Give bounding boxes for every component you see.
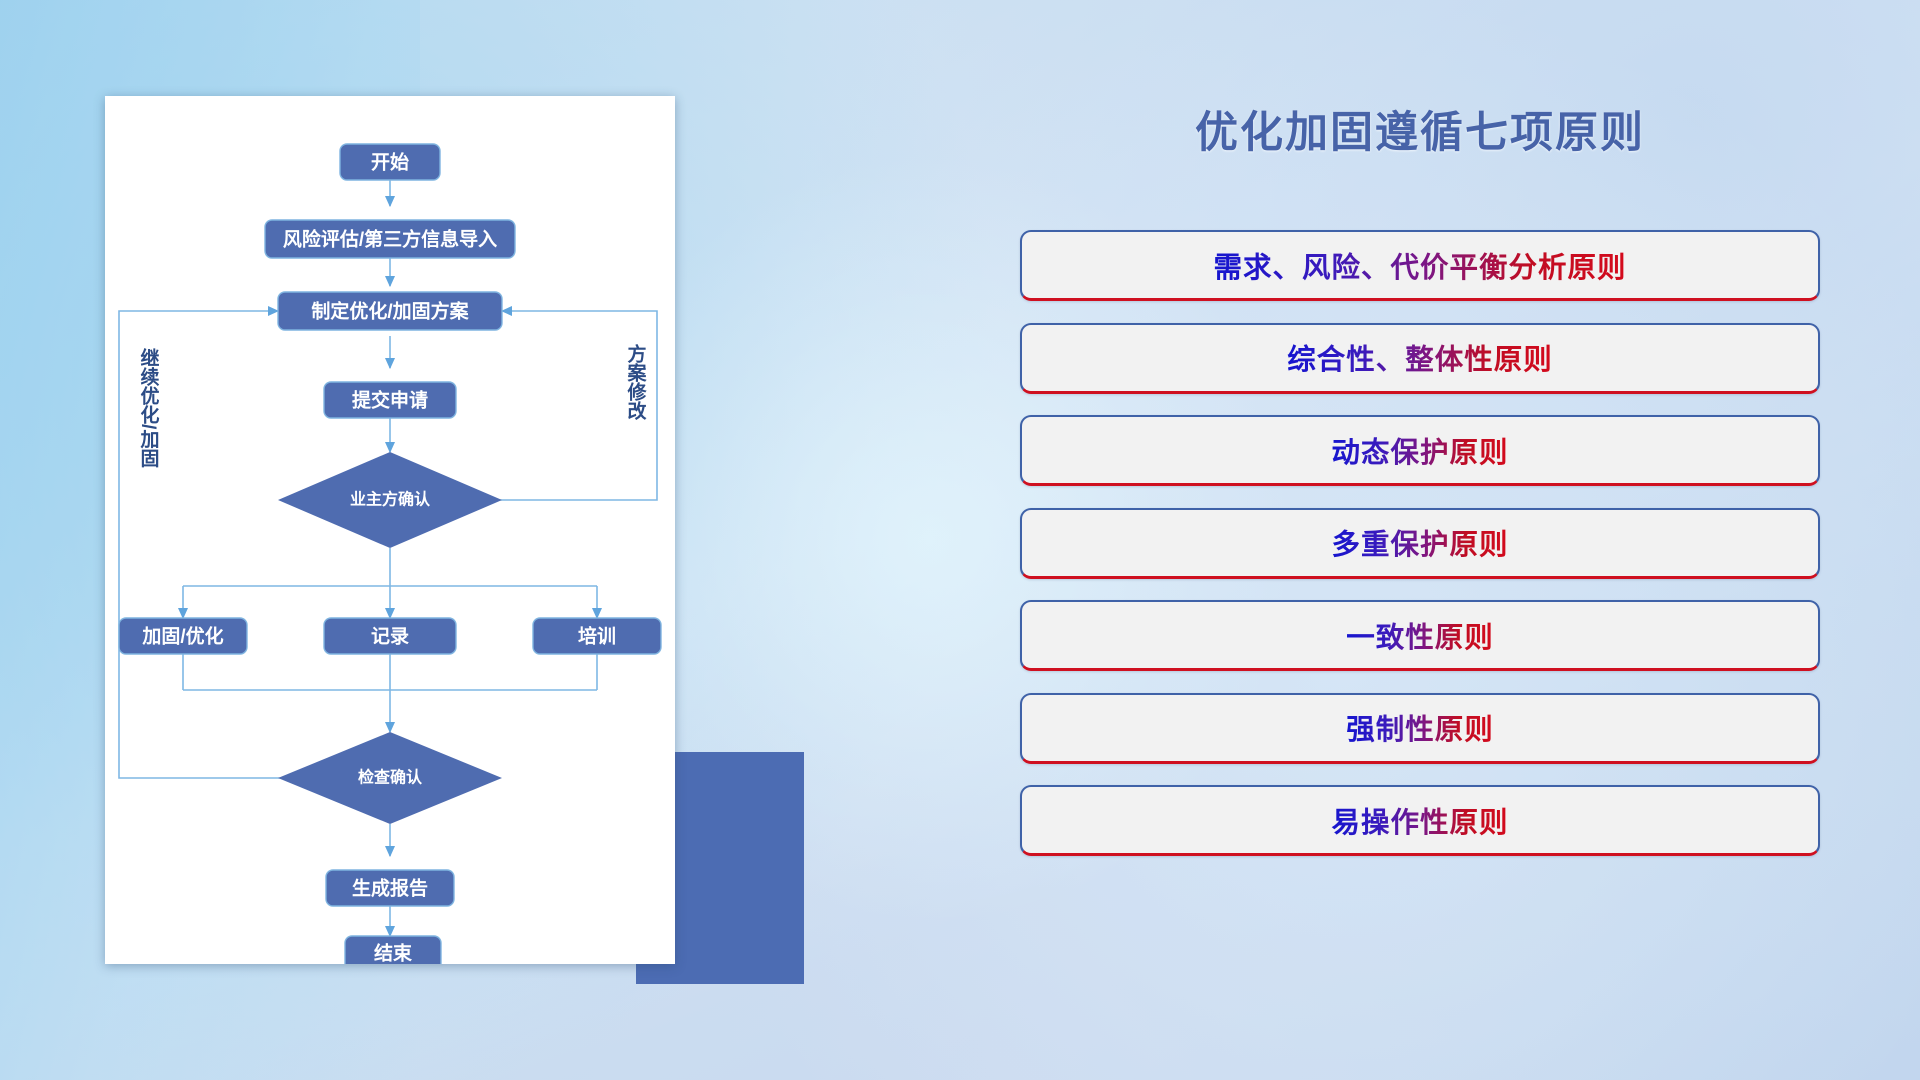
flow-node-risk[interactable]: 风险评估/第三方信息导入 (265, 220, 515, 258)
flow-node-record-label: 记录 (371, 626, 409, 648)
principle-card[interactable]: 多重保护原则 (1020, 508, 1820, 579)
principle-card[interactable]: 动态保护原则 (1020, 415, 1820, 486)
flow-node-check-label: 检查确认 (358, 768, 423, 787)
flow-node-risk-label: 风险评估/第三方信息导入 (283, 228, 497, 251)
principle-card-label: 需求、风险、代价平衡分析原则 (1213, 245, 1626, 286)
principle-card[interactable]: 易操作性原则 (1020, 785, 1820, 856)
principle-card-label: 综合性、整体性原则 (1287, 337, 1553, 378)
principles-panel: 优化加固遵循七项原则 需求、风险、代价平衡分析原则 综合性、整体性原则 动态保护… (1020, 70, 1820, 1020)
edge-label-continue-optimize: 继续优化/加固 (138, 347, 161, 468)
principle-card[interactable]: 综合性、整体性原则 (1020, 323, 1820, 394)
flow-node-report[interactable]: 生成报告 (326, 870, 454, 906)
flow-node-training[interactable]: 培训 (533, 618, 661, 654)
principle-card[interactable]: 一致性原则 (1020, 600, 1820, 671)
flow-node-plan[interactable]: 制定优化/加固方案 (278, 292, 502, 330)
panel-title: 优化加固遵循七项原则 (1020, 70, 1820, 160)
principles-card-list: 需求、风险、代价平衡分析原则 综合性、整体性原则 动态保护原则 多重保护原则 一… (1020, 230, 1820, 856)
principle-card-label: 易操作性原则 (1331, 800, 1508, 841)
flow-node-owner-confirm[interactable]: 业主方确认 (278, 452, 502, 548)
flow-node-end[interactable]: 结束 (345, 936, 441, 964)
flow-node-submit[interactable]: 提交申请 (324, 382, 456, 418)
flow-node-training-label: 培训 (578, 625, 616, 648)
principle-card-label: 强制性原则 (1346, 707, 1494, 748)
flow-node-plan-label: 制定优化/加固方案 (311, 300, 469, 323)
flow-node-report-label: 生成报告 (352, 877, 428, 900)
principle-card[interactable]: 需求、风险、代价平衡分析原则 (1020, 230, 1820, 301)
flow-node-submit-label: 提交申请 (352, 389, 428, 412)
flow-node-record[interactable]: 记录 (324, 618, 456, 654)
flow-node-end-label: 结束 (374, 942, 413, 965)
flow-node-start-label: 开始 (371, 151, 409, 174)
flow-node-owner-confirm-label: 业主方确认 (350, 490, 431, 509)
flow-node-reinforce[interactable]: 加固/优化 (119, 618, 247, 654)
edge-label-plan-revision: 方案修改 (625, 343, 648, 421)
principle-card-label: 一致性原则 (1346, 615, 1494, 656)
flowchart-diagram: 开始 风险评估/第三方信息导入 制定优化/加固方案 提交申请 业主方确认 加固/… (105, 96, 675, 964)
principle-card-label: 多重保护原则 (1331, 522, 1508, 563)
flowchart-card: 开始 风险评估/第三方信息导入 制定优化/加固方案 提交申请 业主方确认 加固/… (105, 96, 675, 964)
principle-card-label: 动态保护原则 (1331, 430, 1508, 471)
principle-card[interactable]: 强制性原则 (1020, 693, 1820, 764)
flow-node-check[interactable]: 检查确认 (278, 732, 502, 824)
flow-node-start[interactable]: 开始 (340, 144, 440, 180)
flow-node-reinforce-label: 加固/优化 (141, 625, 223, 648)
